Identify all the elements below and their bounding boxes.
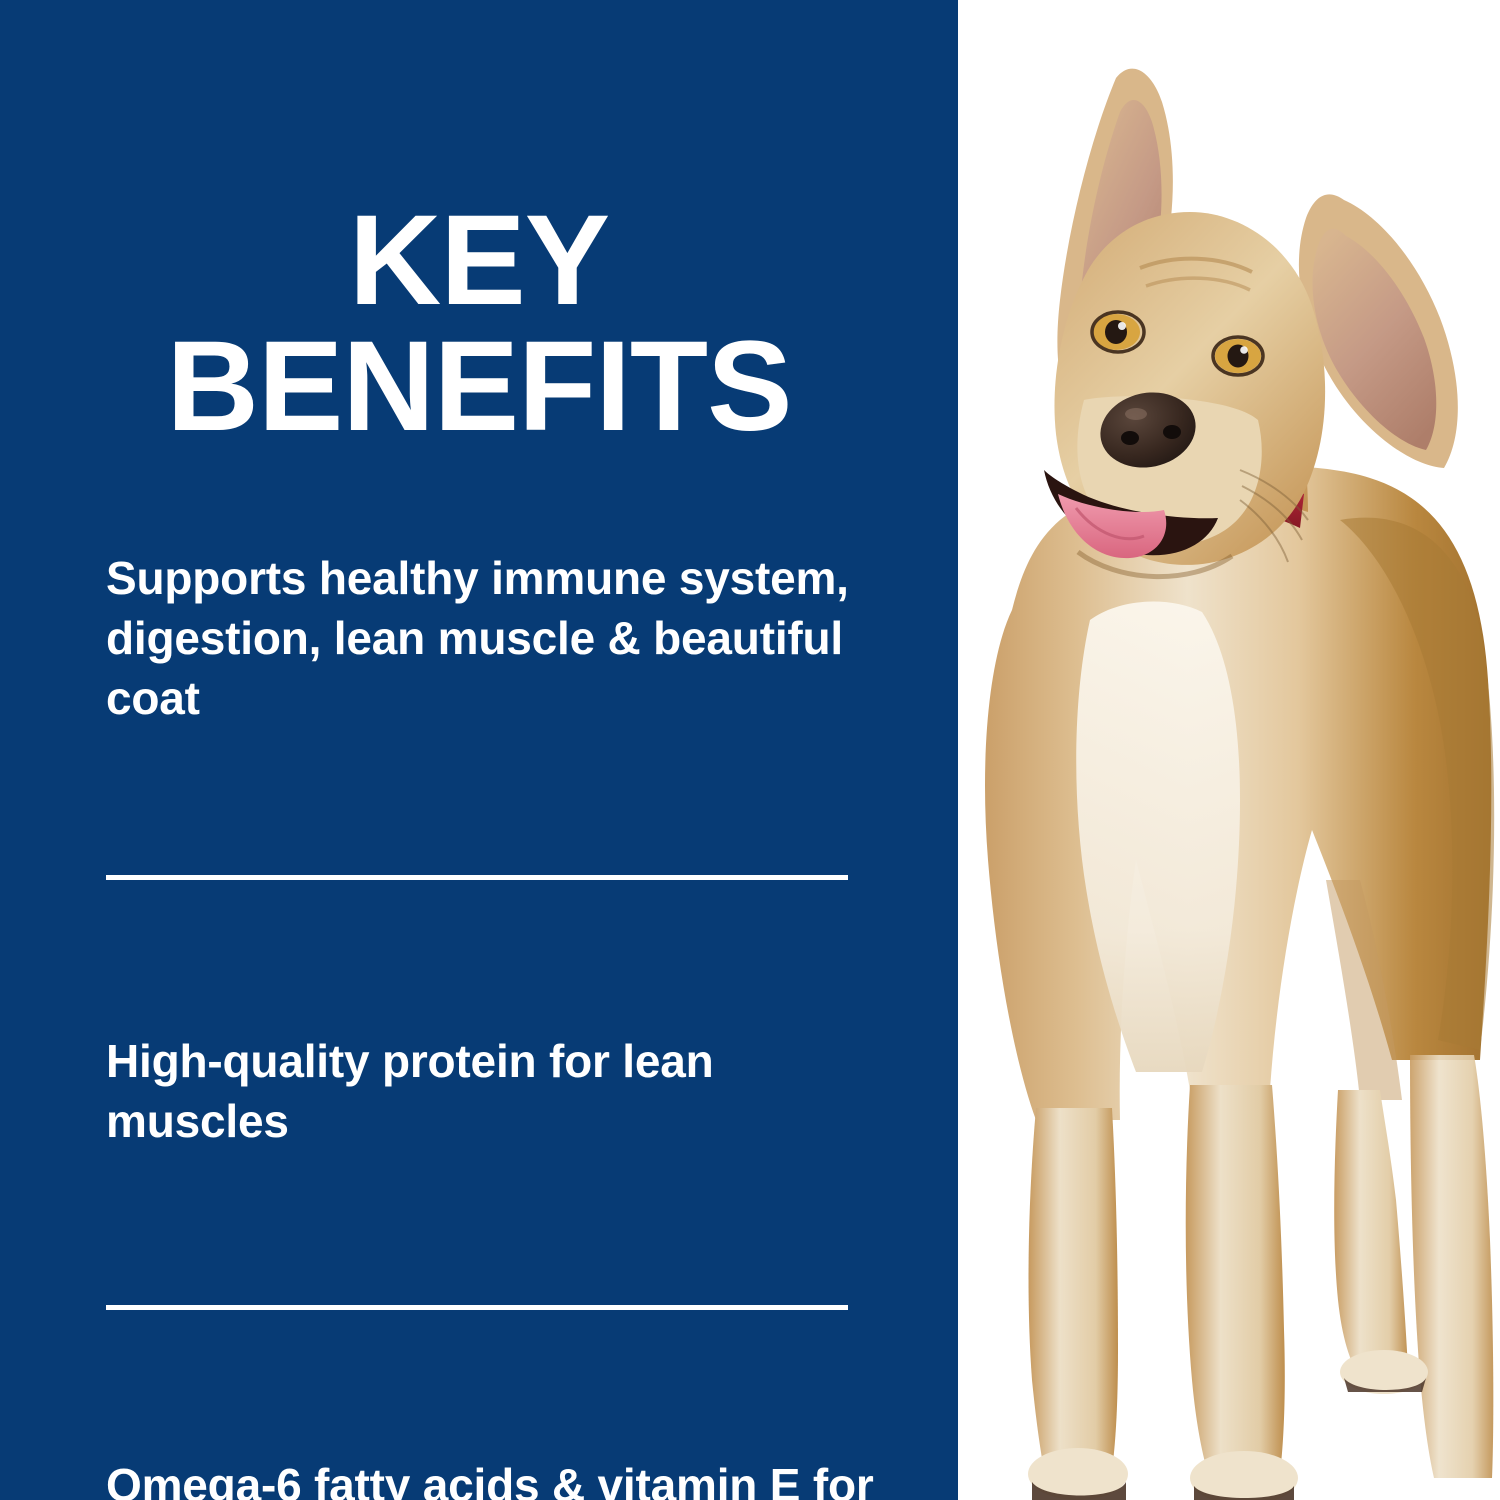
- dog-body: [985, 466, 1494, 1120]
- dog-leg-front-left: [1029, 1108, 1118, 1470]
- nostril-left: [1121, 431, 1139, 445]
- spacer: [106, 774, 896, 875]
- nose-highlight: [1125, 408, 1147, 420]
- key-benefits-panel: KEY BENEFITS Supports healthy immune sys…: [0, 0, 958, 1500]
- benefit-item-omega: Omega-6 fatty acids & vitamin E for beau…: [106, 1455, 896, 1500]
- benefits-list: Supports healthy immune system, digestio…: [106, 502, 896, 1500]
- benefit-item-protein: High-quality protein for lean muscles: [106, 1031, 896, 1151]
- ear-right-inner: [1312, 229, 1436, 450]
- spacer: [106, 1197, 896, 1305]
- eye-right-highlight: [1240, 346, 1248, 354]
- spacer: [106, 880, 896, 985]
- page-title: KEY BENEFITS: [0, 198, 958, 450]
- product-feature-image: KEY BENEFITS Supports healthy immune sys…: [0, 0, 1500, 1500]
- nostril-right: [1163, 425, 1181, 439]
- eye-left-highlight: [1118, 322, 1126, 330]
- benefit-item-immune: Supports healthy immune system, digestio…: [106, 548, 896, 728]
- dog-legs: [1028, 1055, 1493, 1500]
- dog-leg-front-right: [1186, 1085, 1285, 1474]
- dog-leg-back-right: [1410, 1055, 1493, 1478]
- dog-photo: [958, 0, 1500, 1500]
- dog-leg-back-left: [1334, 1090, 1408, 1378]
- spacer: [106, 1310, 896, 1409]
- dog-photo-area: [958, 0, 1500, 1500]
